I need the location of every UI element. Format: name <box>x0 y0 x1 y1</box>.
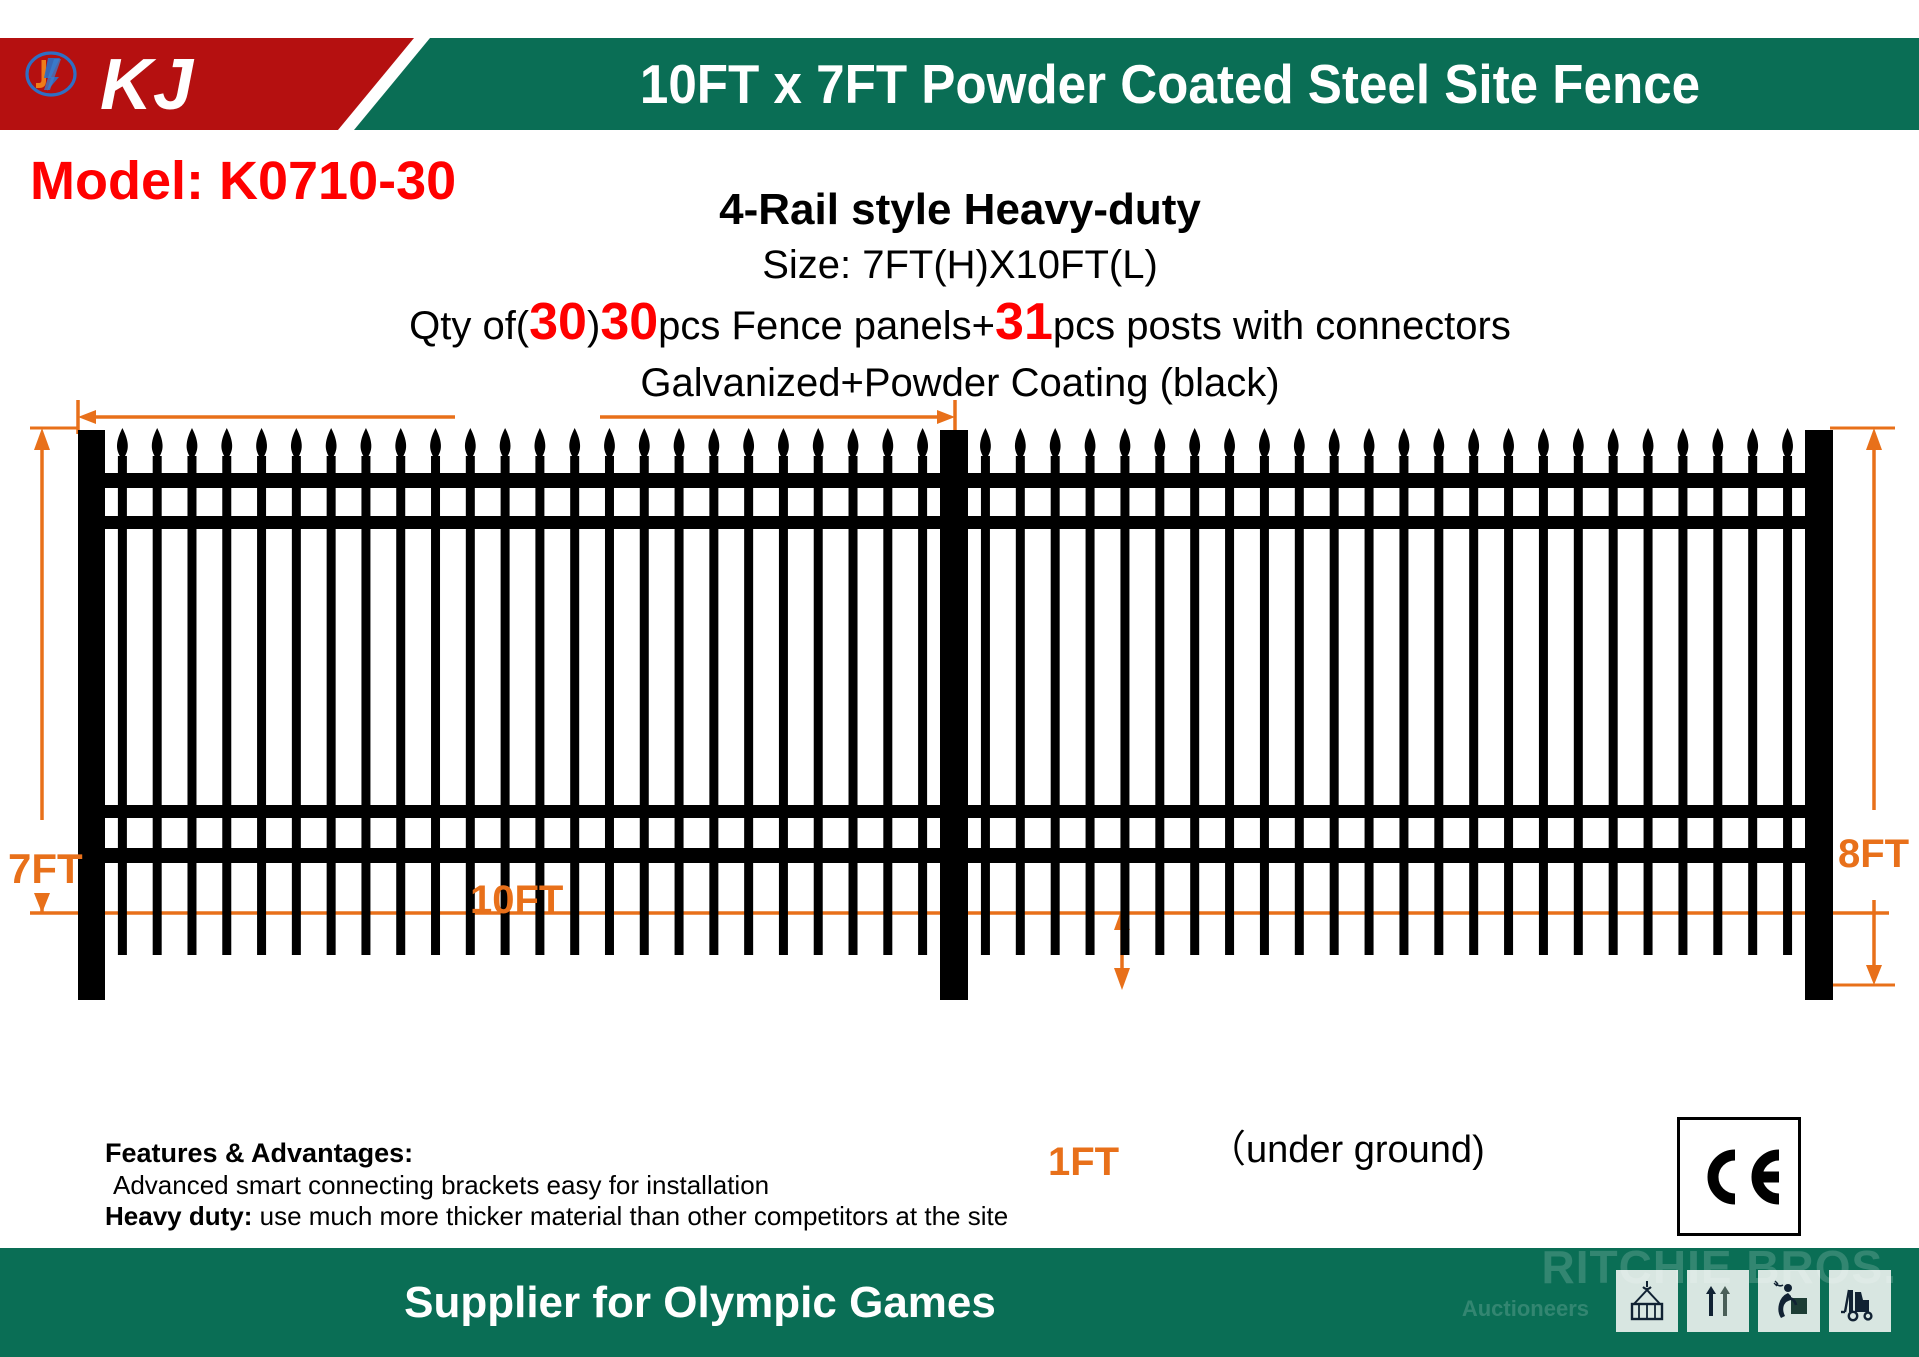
this-side-up-icon <box>1687 1270 1749 1332</box>
features-line-2-text: use much more thicker material than othe… <box>252 1201 1008 1231</box>
qty-prefix: Qty of( <box>409 304 529 348</box>
fence-panel-right <box>962 428 1820 955</box>
page-title: 10FT x 7FT Powder Coated Steel Site Fenc… <box>482 38 1858 130</box>
under-ground-label: （under ground) <box>1208 1118 1485 1173</box>
ce-logo-icon <box>1695 1147 1783 1207</box>
qty-panels-value: 30 <box>600 293 658 351</box>
dimension-label-8ft: 8FT <box>1838 832 1909 877</box>
header-banner: KJ 10FT x 7FT Powder Coated Steel Site F… <box>0 38 1919 130</box>
dimension-10ft <box>78 400 955 434</box>
dimension-label-1ft: 1FT <box>1048 1140 1119 1185</box>
footer-banner: Supplier for Olympic Games <box>0 1248 1919 1357</box>
dimension-label-7ft: 7FT <box>8 845 83 893</box>
fence-drawing <box>0 400 1919 1230</box>
lift-with-care-icon <box>1758 1270 1820 1332</box>
features-line-1: Advanced smart connecting brackets easy … <box>105 1170 1008 1201</box>
fence-post-center <box>940 430 968 1000</box>
spec-size: Size: 7FT(H)X10FT(L) <box>270 238 1650 292</box>
forklift-icon <box>1829 1270 1891 1332</box>
qty-posts-text: pcs posts with connectors <box>1053 304 1511 348</box>
qty-posts-value: 31 <box>995 293 1053 351</box>
features-line-2: Heavy duty: use much more thicker materi… <box>105 1201 1008 1232</box>
crane-lift-icon <box>1616 1270 1678 1332</box>
kj-circle-logo-icon <box>24 47 78 101</box>
features-block: Features & Advantages: Advanced smart co… <box>105 1138 1008 1231</box>
qty-paren-value: 30 <box>529 293 587 351</box>
dimension-8ft <box>1830 428 1895 985</box>
fence-diagram: 10FT <box>0 400 1919 1230</box>
spec-quantity: Qty of(30)30pcs Fence panels+31pcs posts… <box>270 292 1650 356</box>
dimension-7ft <box>30 428 78 913</box>
shipping-icons <box>1616 1270 1891 1332</box>
dimension-label-10ft: 10FT <box>470 878 563 923</box>
brand-name: KJ <box>100 44 194 126</box>
fence-post-right <box>1805 430 1833 1000</box>
features-title: Features & Advantages: <box>105 1138 1008 1170</box>
spec-style: 4-Rail style Heavy-duty <box>270 182 1650 238</box>
supplier-text: Supplier for Olympic Games <box>0 1248 1400 1357</box>
features-line-2-label: Heavy duty: <box>105 1201 252 1231</box>
qty-panels-text: pcs Fence panels+ <box>658 304 995 348</box>
ce-mark <box>1677 1117 1801 1236</box>
qty-paren-close: ) <box>587 304 600 348</box>
specification-block: 4-Rail style Heavy-duty Size: 7FT(H)X10F… <box>270 182 1650 410</box>
